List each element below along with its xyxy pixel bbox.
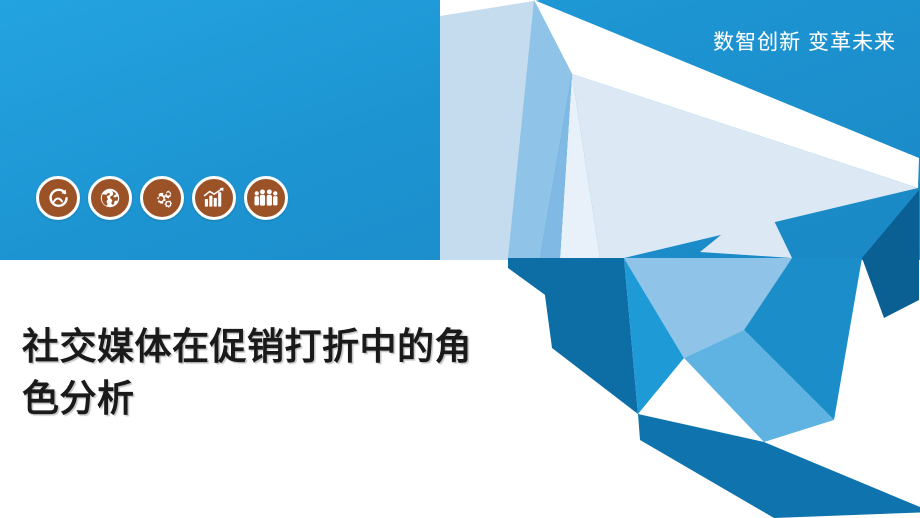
bar-chart-icon[interactable] <box>192 176 236 220</box>
icon-row <box>36 176 288 220</box>
polygon-artwork <box>0 0 920 518</box>
gears-icon[interactable] <box>140 176 184 220</box>
refresh-cycle-icon[interactable] <box>36 176 80 220</box>
globe-icon[interactable] <box>88 176 132 220</box>
slide-canvas: 数智创新 变革未来 <box>0 0 920 518</box>
poly-deep-center-block <box>540 258 638 414</box>
people-group-icon[interactable] <box>244 176 288 220</box>
poly-right-dark-edge <box>862 190 919 318</box>
page-title: 社交媒体在促销打折中的角色分析 <box>22 321 502 426</box>
tagline: 数智创新 变革未来 <box>713 26 896 56</box>
